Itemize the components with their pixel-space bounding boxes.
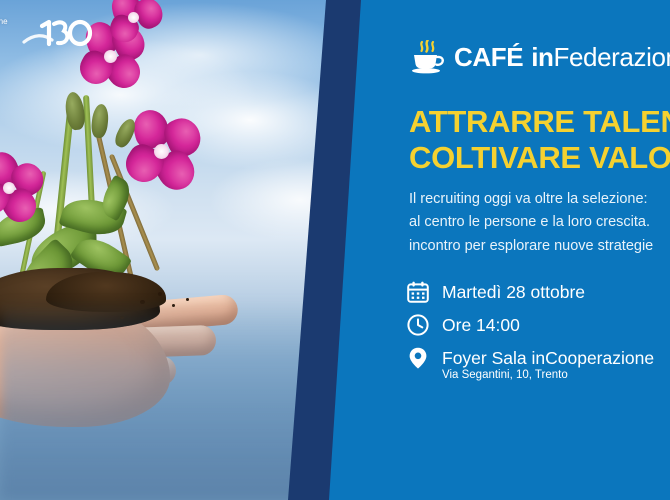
brand-federazione-text: Federazione bbox=[554, 42, 670, 72]
description-text: Il recruiting oggi va oltre la selezione… bbox=[409, 188, 670, 258]
coffee-cup-icon bbox=[409, 40, 445, 74]
headline-line-1: ATTRARRE TALENTI bbox=[409, 104, 670, 140]
calendar-icon bbox=[406, 280, 430, 304]
poster-content: CAFÉinFederazione ATTRARRE TALENTI COLTI… bbox=[406, 0, 670, 500]
event-date-label: Martedì 28 ottobre bbox=[442, 282, 585, 302]
event-venue-label: Foyer Sala inCooperazione bbox=[442, 348, 654, 368]
description-line-1: Il recruiting oggi va oltre la selezione… bbox=[409, 188, 670, 211]
anniversary-logo-text: azione a bbox=[0, 17, 8, 37]
brand-wordmark: CAFÉinFederazione bbox=[454, 44, 670, 70]
clock-icon bbox=[406, 313, 430, 337]
event-details: Martedì 28 ottobre Ore 14:00 bbox=[406, 280, 670, 381]
anniversary-logo: azione a bbox=[0, 4, 94, 50]
event-time-row: Ore 14:00 bbox=[406, 313, 670, 337]
event-date-row: Martedì 28 ottobre bbox=[406, 280, 670, 304]
anniversary-logo-line2: a bbox=[0, 27, 8, 37]
anniversary-130-mark bbox=[22, 12, 94, 52]
brand-lockup: CAFÉinFederazione bbox=[409, 40, 670, 74]
headline-line-2: COLTIVARE VALORE bbox=[409, 140, 670, 176]
brand-in-text: in bbox=[531, 42, 553, 72]
event-poster: azione a CAFÉinFederazione bbox=[0, 0, 670, 500]
description-line-3: incontro per esplorare nuove strategie bbox=[409, 235, 670, 258]
anniversary-logo-line1: azione bbox=[0, 17, 8, 27]
map-pin-icon bbox=[406, 346, 430, 370]
event-venue-row: Foyer Sala inCooperazione bbox=[406, 346, 670, 370]
pink-flower bbox=[0, 152, 48, 224]
event-address-label: Via Segantini, 10, Trento bbox=[442, 369, 670, 381]
description-line-2: al centro le persone e la loro crescita. bbox=[409, 211, 670, 234]
pink-flower bbox=[104, 0, 164, 44]
page-title: ATTRARRE TALENTI COLTIVARE VALORE bbox=[409, 104, 670, 176]
event-time-label: Ore 14:00 bbox=[442, 315, 520, 335]
brand-cafe-text: CAFÉ bbox=[454, 42, 523, 72]
